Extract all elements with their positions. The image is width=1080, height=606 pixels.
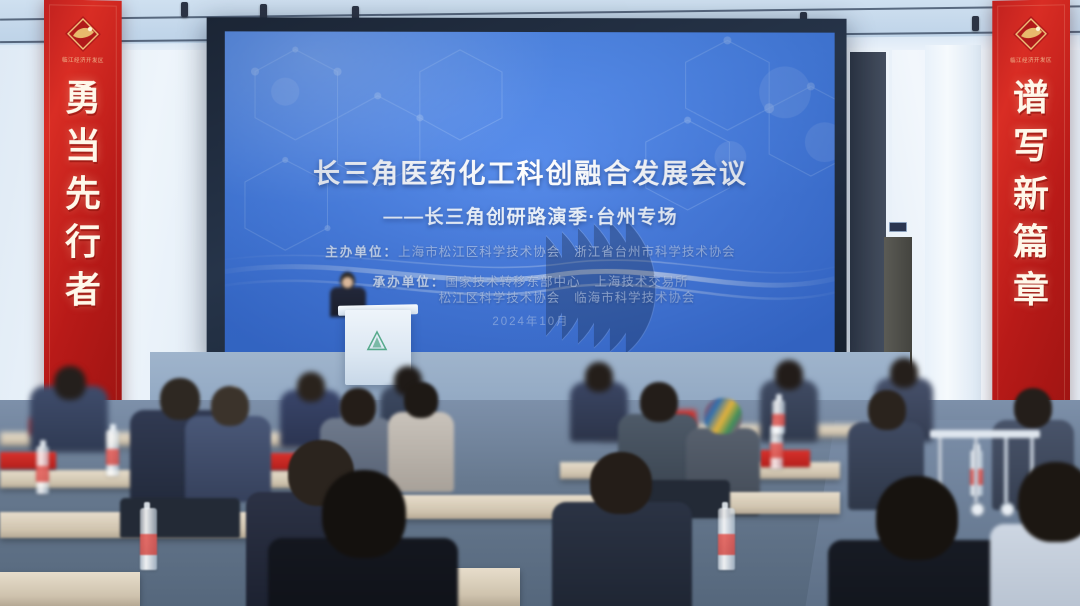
banner-left-char-1: 勇 bbox=[44, 73, 122, 122]
banner-left: 临江经济开发区 勇 当 先 行 者 bbox=[44, 0, 122, 421]
bottle-label bbox=[770, 443, 783, 458]
organizer-line-2: 承办单位：松江区科学技术协会临海市科学技术协会 bbox=[225, 287, 835, 307]
banner-right-char-1: 谱 bbox=[992, 73, 1070, 122]
bottle-label bbox=[140, 534, 157, 555]
water-bottle bbox=[106, 430, 119, 476]
track-light bbox=[181, 2, 188, 17]
head bbox=[876, 476, 958, 560]
name-card bbox=[760, 450, 810, 467]
banner-right: 临江经济开发区 谱 写 新 篇 章 bbox=[992, 0, 1070, 421]
slide-date: 2024年10月 bbox=[225, 312, 835, 329]
torso bbox=[388, 412, 454, 492]
banner-left-char-5: 者 bbox=[44, 265, 122, 313]
slide-content: 长三角医药化工科创融合发展会议 ——长三角创研路演季·台州专场 主办单位：上海市… bbox=[225, 31, 835, 354]
head bbox=[211, 386, 249, 426]
head bbox=[590, 452, 652, 514]
organizer-org-4: 临海市科学技术协会 bbox=[574, 291, 695, 305]
slide-title: 长三角医药化工科创融合发展会议 bbox=[225, 152, 835, 191]
banner-left-char-3: 先 bbox=[44, 170, 122, 218]
track-light bbox=[972, 16, 979, 31]
head bbox=[1018, 462, 1080, 542]
head bbox=[704, 398, 742, 434]
led-screen: 长三角医药化工科创融合发展会议 ——长三角创研路演季·台州专场 主办单位：上海市… bbox=[225, 31, 835, 354]
head bbox=[890, 358, 918, 388]
head bbox=[340, 388, 376, 426]
head bbox=[868, 390, 906, 430]
banner-right-char-3: 新 bbox=[992, 170, 1070, 218]
podium-logo-icon bbox=[364, 330, 390, 352]
head bbox=[54, 366, 86, 400]
head bbox=[404, 382, 438, 418]
banner-right-char-4: 篇 bbox=[992, 218, 1070, 266]
organizer-org-3: 松江区科学技术协会 bbox=[439, 291, 561, 305]
torso bbox=[185, 416, 271, 502]
head bbox=[1014, 388, 1052, 428]
head bbox=[297, 372, 325, 402]
bottle-label bbox=[718, 534, 735, 555]
speaker-face bbox=[342, 277, 353, 288]
host-org-2: 浙江省台州市科学技术协会 bbox=[574, 245, 735, 259]
head bbox=[585, 362, 613, 392]
led-screen-frame: 长三角医药化工科创融合发展会议 ——长三角创研路演季·台州专场 主办单位：上海市… bbox=[207, 17, 847, 363]
host-label: 主办单位： bbox=[325, 245, 398, 259]
head bbox=[640, 382, 678, 422]
torso bbox=[552, 502, 692, 606]
water-bottle bbox=[140, 508, 157, 570]
head bbox=[322, 470, 406, 558]
exit-sign-icon bbox=[889, 222, 907, 232]
host-line: 主办单位：上海市松江区科学技术协会浙江省台州市科学技术协会 bbox=[225, 241, 835, 261]
banner-right-chars: 谱 写 新 篇 章 bbox=[992, 73, 1070, 313]
water-bottle bbox=[772, 400, 785, 434]
head bbox=[160, 378, 200, 420]
banner-logo-icon bbox=[63, 14, 103, 55]
cart-leg bbox=[974, 438, 978, 504]
water-bottle bbox=[36, 446, 49, 494]
audience-table bbox=[0, 572, 140, 606]
banner-right-char-2: 写 bbox=[992, 122, 1070, 170]
bottle-label bbox=[106, 449, 119, 465]
banner-left-char-4: 行 bbox=[44, 218, 122, 266]
chair bbox=[120, 498, 240, 538]
wall-pillar bbox=[925, 45, 981, 445]
banner-left-logo-text: 临江经济开发区 bbox=[44, 55, 122, 64]
bottle-label bbox=[772, 414, 785, 426]
banner-right-logo-text: 临江经济开发区 bbox=[992, 55, 1070, 64]
banner-logo-icon bbox=[1011, 14, 1051, 55]
cart-caster bbox=[1000, 502, 1015, 517]
bottle-label bbox=[36, 466, 49, 482]
head bbox=[775, 360, 803, 390]
cart-caster bbox=[970, 502, 985, 517]
cart-top bbox=[930, 430, 1040, 438]
cart-leg bbox=[1004, 438, 1008, 504]
conference-photo: 长三角医药化工科创融合发展会议 ——长三角创研路演季·台州专场 主办单位：上海市… bbox=[0, 0, 1080, 606]
water-bottle bbox=[718, 508, 735, 570]
banner-right-char-5: 章 bbox=[992, 265, 1070, 313]
slide-subtitle: ——长三角创研路演季·台州专场 bbox=[225, 202, 835, 229]
banner-left-chars: 勇 当 先 行 者 bbox=[44, 73, 122, 313]
host-org-1: 上海市松江区科学技术协会 bbox=[398, 245, 560, 259]
banner-left-char-2: 当 bbox=[44, 122, 122, 170]
